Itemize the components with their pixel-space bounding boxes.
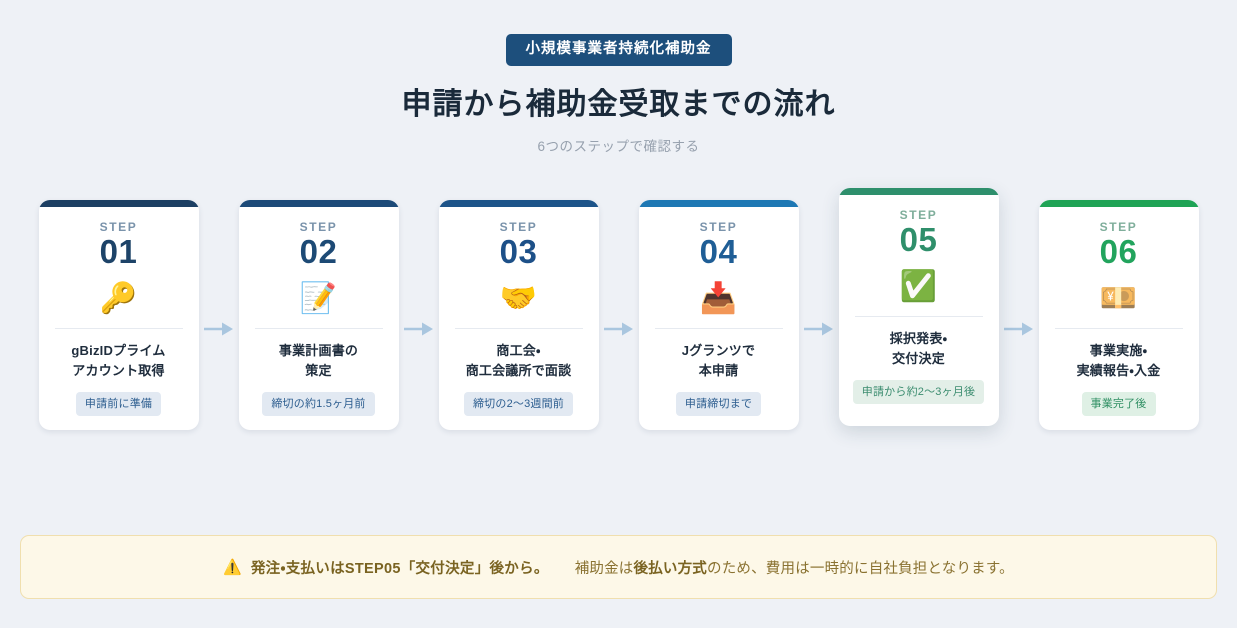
divider [55,328,183,329]
step-number: 06 [1039,235,1199,270]
step-title-line2: 策定 [247,361,391,381]
step-timing-badge: 申請締切まで [676,392,761,417]
step-label: STEP [1039,220,1199,234]
step-title-line2: アカウント取得 [47,361,191,381]
step-number: 03 [439,235,599,270]
handshake-icon: 🤝 [439,284,599,318]
step-title-line1: 商工会・ [447,341,591,361]
subsidy-name-badge: 小規模事業者持続化補助金 [506,34,732,66]
step-connector-5 [999,188,1039,466]
divider [455,328,583,329]
step-title-line2: 本申請 [647,361,791,381]
step-label: STEP [439,220,599,234]
arrow-right-icon [404,321,434,337]
step-number: 05 [839,223,999,258]
step-title: 商工会・商工会議所で面談 [439,341,599,381]
step-badge-wrap: 事業完了後 [1039,392,1199,417]
step-label: STEP [639,220,799,234]
step-connector-2 [399,188,439,466]
divider [1055,328,1183,329]
step-card-accent-bar [839,188,999,195]
step-label: STEP [239,220,399,234]
step-card-05[interactable]: STEP05✅採択発表・交付決定申請から約2〜3ヶ月後 [839,188,999,426]
step-card-accent-bar [439,200,599,207]
step-card-accent-bar [39,200,199,207]
step-slot-01: STEP01🔑gBizIDプライムアカウント取得申請前に準備 [39,188,199,430]
key-icon: 🔑 [39,284,199,318]
yen-banknote-icon: 💴 [1039,284,1199,318]
step-card-accent-bar [239,200,399,207]
arrow-right-icon [204,321,234,337]
warning-detail-before: 補助金は [575,561,634,577]
step-number: 01 [39,235,199,270]
divider [255,328,383,329]
step-card-02[interactable]: STEP02📝事業計画書の策定締切の約1.5ヶ月前 [239,200,399,430]
step-title-line1: 事業実施・ [1047,341,1191,361]
step-connector-3 [599,188,639,466]
step-card-04[interactable]: STEP04📥Jグランツで本申請申請締切まで [639,200,799,430]
step-slot-04: STEP04📥Jグランツで本申請申請締切まで [639,188,799,430]
page-title: 申請から補助金受取までの流れ [0,87,1237,123]
step-badge-wrap: 申請から約2〜3ヶ月後 [839,380,999,405]
step-timing-badge: 締切の約1.5ヶ月前 [262,392,374,417]
step-number: 02 [239,235,399,270]
divider [855,316,983,317]
page-subtitle: 6つのステップで確認する [0,135,1237,155]
step-timing-badge: 事業完了後 [1082,392,1156,417]
divider [655,328,783,329]
step-card-01[interactable]: STEP01🔑gBizIDプライムアカウント取得申請前に準備 [39,200,199,430]
step-connector-4 [799,188,839,466]
warning-headline: 発注・支払いはSTEP05「交付決定」後から。 [251,557,549,578]
step-badge-wrap: 申請前に準備 [39,392,199,417]
warning-icon: ⚠️ [223,560,242,575]
step-slot-06: STEP06💴事業実施・実績報告・入金事業完了後 [1039,188,1199,430]
memo-pencil-icon: 📝 [239,284,399,318]
warning-detail-after: のため、費用は一時的に自社負担となります。 [707,561,1014,577]
step-title-line2: 商工会議所で面談 [447,361,591,381]
step-title: gBizIDプライムアカウント取得 [39,341,199,381]
step-label: STEP [39,220,199,234]
step-label: STEP [839,208,999,222]
step-title-line1: gBizIDプライム [47,341,191,361]
arrow-right-icon [604,321,634,337]
page-header: 小規模事業者持続化補助金 申請から補助金受取までの流れ 6つのステップで確認する [0,0,1237,155]
step-number: 04 [639,235,799,270]
warning-detail: 補助金は後払い方式のため、費用は一時的に自社負担となります。 [575,557,1014,578]
step-badge-wrap: 申請締切まで [639,392,799,417]
step-title-line1: 事業計画書の [247,341,391,361]
check-mark-button-icon: ✅ [839,272,999,306]
step-slot-03: STEP03🤝商工会・商工会議所で面談締切の2〜3週間前 [439,188,599,430]
inbox-tray-icon: 📥 [639,284,799,318]
step-connector-1 [199,188,239,466]
step-card-accent-bar [639,200,799,207]
step-timing-badge: 締切の2〜3週間前 [464,392,573,417]
step-title-line2: 実績報告・入金 [1047,361,1191,381]
step-card-03[interactable]: STEP03🤝商工会・商工会議所で面談締切の2〜3週間前 [439,200,599,430]
step-slot-05: STEP05✅採択発表・交付決定申請から約2〜3ヶ月後 [839,188,999,426]
step-title: 採択発表・交付決定 [839,329,999,369]
step-timing-badge: 申請から約2〜3ヶ月後 [853,380,984,405]
step-timing-badge: 申請前に準備 [76,392,161,417]
arrow-right-icon [804,321,834,337]
step-slot-02: STEP02📝事業計画書の策定締切の約1.5ヶ月前 [239,188,399,430]
step-title: 事業計画書の策定 [239,341,399,381]
step-title: Jグランツで本申請 [639,341,799,381]
step-title: 事業実施・実績報告・入金 [1039,341,1199,381]
steps-flow: STEP01🔑gBizIDプライムアカウント取得申請前に準備STEP02📝事業計… [0,188,1237,488]
warning-banner: ⚠️ 発注・支払いはSTEP05「交付決定」後から。 補助金は後払い方式のため、… [20,535,1217,599]
step-card-accent-bar [1039,200,1199,207]
step-card-06[interactable]: STEP06💴事業実施・実績報告・入金事業完了後 [1039,200,1199,430]
warning-detail-emphasis: 後払い方式 [634,561,708,577]
step-title-line2: 交付決定 [847,349,991,369]
step-badge-wrap: 締切の2〜3週間前 [439,392,599,417]
step-title-line1: 採択発表・ [847,329,991,349]
step-title-line1: Jグランツで [647,341,791,361]
arrow-right-icon [1004,321,1034,337]
step-badge-wrap: 締切の約1.5ヶ月前 [239,392,399,417]
